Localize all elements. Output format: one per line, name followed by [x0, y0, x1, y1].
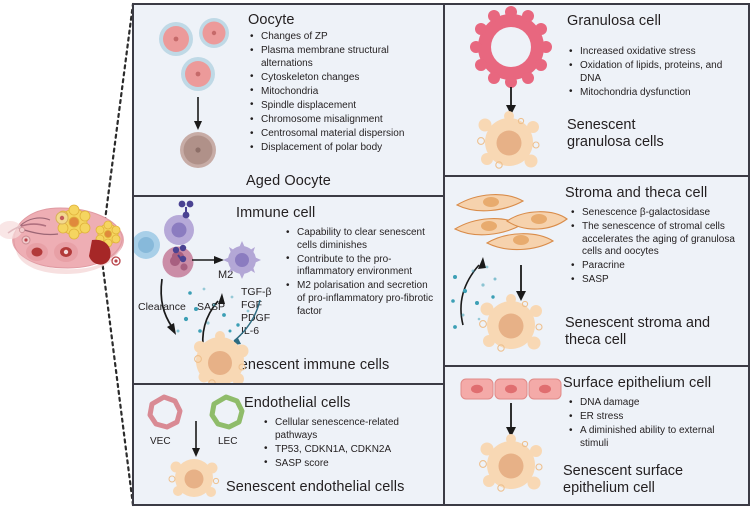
panel-epithelium-bullets: DNA damage ER stress A diminished abilit… — [569, 397, 733, 452]
list-item: Oxidation of lipids, proteins, and DNA — [569, 60, 727, 85]
arrow-right-icon — [192, 256, 224, 264]
granulosa-diagram — [461, 7, 561, 175]
panel-grid: Oocyte Changes of ZP Plasma membrane str… — [132, 3, 750, 506]
cytokine-arrow-icon — [228, 300, 260, 346]
panel-epithelium: Surface epithelium cell DNA damage ER st… — [445, 367, 748, 504]
panel-oocyte-bullets: Changes of ZP Plasma membrane structural… — [250, 31, 432, 156]
panel-endothelial-title: Endothelial cells — [244, 395, 351, 411]
lec-ring-icon — [212, 397, 242, 427]
list-item: Changes of ZP — [250, 31, 432, 44]
arrow-down-icon — [194, 97, 202, 130]
list-item: TP53, CDKN1A, CDKN2A — [264, 444, 432, 457]
list-item: Cytoskeleton changes — [250, 72, 432, 85]
clearance-arrow-icon — [161, 279, 176, 335]
left-column: Oocyte Changes of ZP Plasma membrane str… — [134, 5, 445, 504]
list-item: Senescence β-galactosidase — [571, 207, 735, 220]
panel-granulosa: Granulosa cell Increased oxidative stres… — [445, 5, 748, 177]
senescent-endothelial-cell-icon — [169, 459, 219, 497]
list-item: Mitochondria — [250, 86, 432, 99]
arrow-down-icon — [506, 87, 516, 115]
epithelium-cells-icon — [461, 379, 561, 399]
list-item: SASP — [571, 274, 735, 287]
outcome-line: theca cell — [565, 332, 710, 349]
lymphocyte-blue-icon — [134, 231, 160, 259]
list-item: Spindle displacement — [250, 100, 432, 113]
panel-stroma-outcome: Senescent stroma and theca cell — [565, 315, 710, 349]
figure-root: Oocyte Changes of ZP Plasma membrane str… — [0, 0, 754, 509]
panel-stroma-title: Stroma and theca cell — [565, 185, 707, 201]
list-item: Centrosomal material dispersion — [250, 128, 432, 141]
panel-endothelial-outcome: Senescent endothelial cells — [226, 479, 404, 495]
panel-immune-bullets: Capability to clear senescent cells dimi… — [286, 227, 434, 320]
monocyte-purple-icon — [164, 215, 194, 245]
panel-epithelium-outcome: Senescent surface epithelium cell — [563, 463, 683, 497]
ovary-illustration — [0, 178, 132, 296]
panel-oocyte: Oocyte Changes of ZP Plasma membrane str… — [134, 5, 443, 197]
arrow-down-icon — [516, 265, 526, 301]
senescent-epithelium-cell-icon — [480, 434, 542, 491]
endothelial-diagram — [134, 387, 252, 503]
panel-granulosa-outcome: Senescent granulosa cells — [567, 117, 664, 151]
senescent-stroma-cell-icon — [480, 294, 542, 351]
right-column: Granulosa cell Increased oxidative stres… — [445, 5, 748, 504]
stroma-diagram — [449, 181, 575, 363]
senescent-granulosa-cell-icon — [478, 111, 539, 168]
arrow-down-icon — [506, 403, 516, 437]
outcome-line: Senescent — [567, 117, 664, 134]
stroma-cells-icon — [455, 195, 567, 250]
outcome-line: granulosa cells — [567, 134, 664, 151]
list-item: M2 polarisation and secretion of pro-inf… — [286, 280, 434, 318]
list-item: Plasma membrane structural alternations — [250, 45, 432, 70]
epithelium-diagram — [459, 375, 569, 503]
panel-granulosa-bullets: Increased oxidative stress Oxidation of … — [569, 46, 727, 101]
panel-immune: Immune cell Capability to clear senescen… — [134, 197, 443, 385]
arrow-down-icon — [192, 421, 200, 457]
sasp-dots — [177, 288, 250, 335]
m2-macrophage-icon — [223, 241, 261, 279]
panel-stroma: Stroma and theca cell Senescence β-galac… — [445, 177, 748, 367]
immune-diagram — [134, 197, 294, 383]
list-item: ER stress — [569, 411, 733, 424]
list-item: Contribute to the pro-inflammatory envir… — [286, 254, 434, 279]
list-item: Cellular senescence-related pathways — [264, 417, 432, 442]
list-item: SASP score — [264, 458, 432, 471]
vec-ring-icon — [150, 397, 180, 427]
panel-oocyte-title: Oocyte — [248, 12, 295, 28]
list-item: Mitochondria dysfunction — [569, 87, 727, 100]
panel-granulosa-title: Granulosa cell — [567, 13, 661, 29]
panel-epithelium-title: Surface epithelium cell — [563, 375, 711, 391]
outcome-line: Senescent stroma and — [565, 315, 710, 332]
list-item: The senescence of stromal cells accelera… — [571, 221, 735, 259]
outcome-line: Senescent surface — [563, 463, 683, 480]
outcome-line: epithelium cell — [563, 480, 683, 497]
list-item: Paracrine — [571, 260, 735, 273]
panel-stroma-bullets: Senescence β-galactosidase The senescenc… — [571, 207, 735, 289]
panel-endothelial-bullets: Cellular senescence-related pathways TP5… — [264, 417, 432, 472]
panel-endothelial: Endothelial cells Cellular senescence-re… — [134, 385, 443, 504]
list-item: Chromosome misalignment — [250, 114, 432, 127]
list-item: DNA damage — [569, 397, 733, 410]
granulosa-ring-icon — [470, 6, 552, 88]
list-item: Capability to clear senescent cells dimi… — [286, 227, 434, 252]
panel-oocyte-outcome: Aged Oocyte — [246, 173, 331, 189]
list-item: Displacement of polar body — [250, 142, 432, 155]
oocyte-diagram — [154, 11, 254, 171]
aged-oocyte-icon — [180, 132, 216, 168]
oocyte-icon — [159, 18, 229, 91]
list-item: Increased oxidative stress — [569, 46, 727, 59]
list-item: A diminished ability to external stimuli — [569, 425, 733, 450]
